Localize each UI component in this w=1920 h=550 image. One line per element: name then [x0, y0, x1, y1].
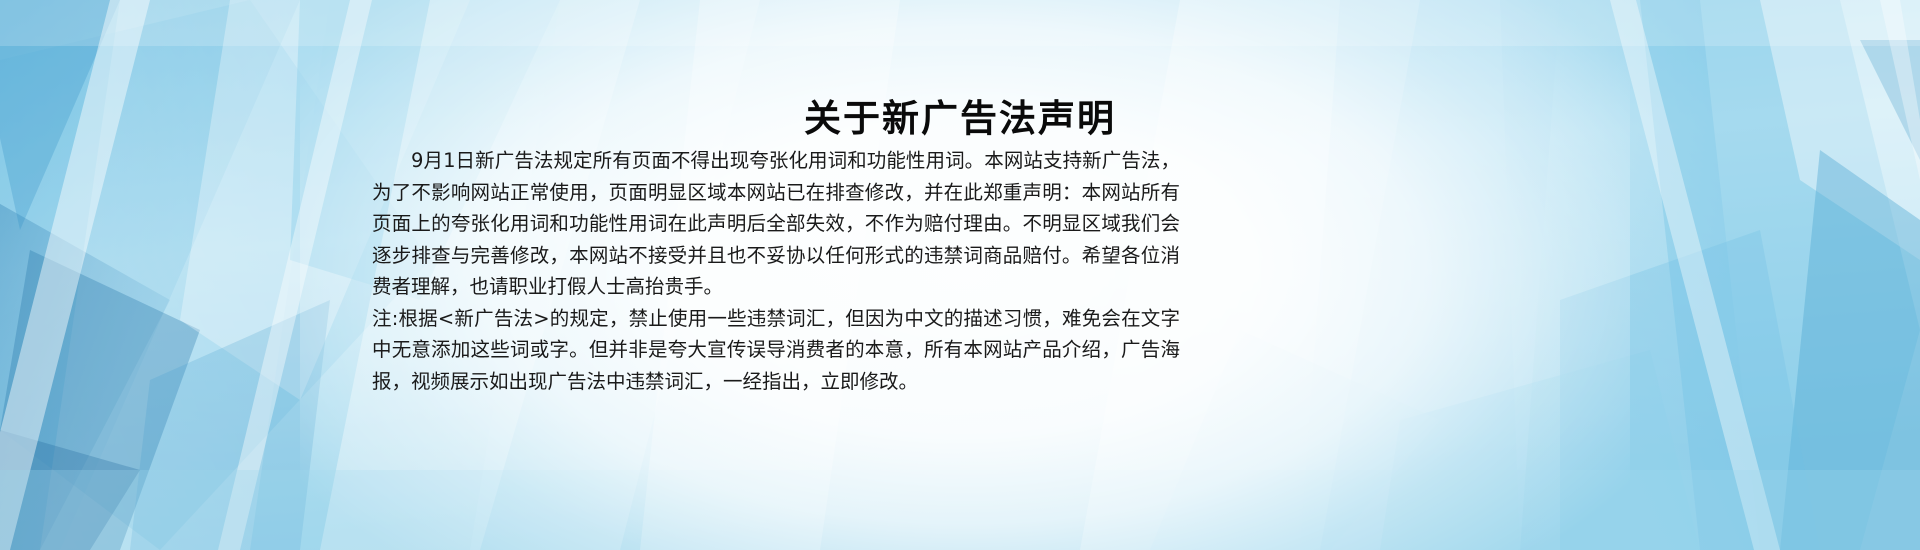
- notice-body: 9月1日新广告法规定所有页面不得出现夸张化用词和功能性用词。本网站支持新广告法，…: [372, 145, 1180, 397]
- notice-paragraph-1: 9月1日新广告法规定所有页面不得出现夸张化用词和功能性用词。本网站支持新广告法，…: [372, 145, 1180, 303]
- banner-stage: 关于新广告法声明 9月1日新广告法规定所有页面不得出现夸张化用词和功能性用词。本…: [0, 0, 1920, 550]
- page-title: 关于新广告法声明: [0, 88, 1920, 142]
- notice-content: 关于新广告法声明 9月1日新广告法规定所有页面不得出现夸张化用词和功能性用词。本…: [0, 0, 1920, 550]
- notice-paragraph-2: 注:根据<新广告法>的规定，禁止使用一些违禁词汇，但因为中文的描述习惯，难免会在…: [372, 303, 1180, 398]
